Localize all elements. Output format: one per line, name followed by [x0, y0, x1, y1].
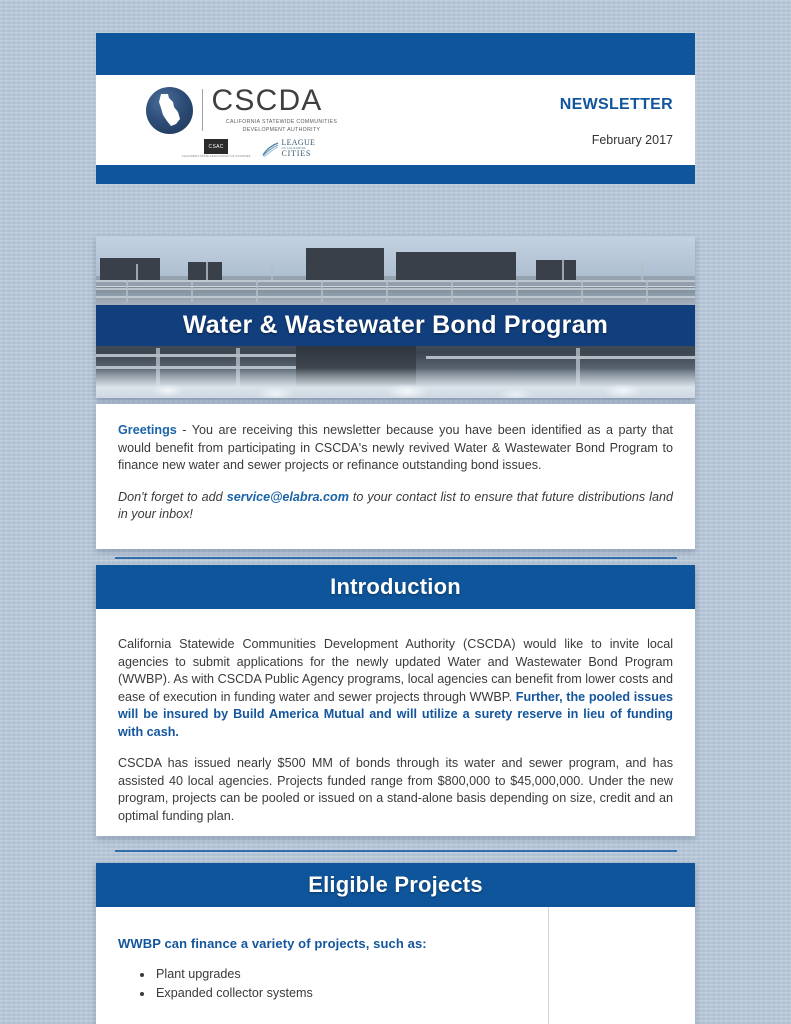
rail-post [646, 280, 648, 302]
whitelist-note: Don't forget to add service@elabra.com t… [118, 489, 673, 524]
introduction-body: California Statewide Communities Develop… [96, 609, 695, 836]
hero-banner: Water & Wastewater Bond Program [96, 236, 695, 398]
csac-logo: CSAC CALIFORNIA STATE ASSOCIATION OF COU… [182, 139, 251, 158]
handrail [426, 356, 695, 359]
building [396, 252, 516, 280]
greeting-panel: Greetings - You are receiving this newsl… [96, 404, 695, 549]
hero-title: Water & Wastewater Bond Program [183, 311, 608, 340]
rail-post [581, 280, 583, 302]
greeting-paragraph: Greetings - You are receiving this newsl… [118, 422, 673, 475]
masthead: CSCDA CALIFORNIA STATEWIDE COMMUNITIES D… [96, 33, 695, 193]
issue-date: February 2017 [592, 133, 673, 147]
section-divider-rule [115, 557, 677, 559]
building [536, 260, 576, 280]
section-divider-rule [115, 850, 677, 852]
list-item: Plant upgrades [154, 965, 548, 984]
rail-post [321, 280, 323, 302]
introduction-section-header: Introduction [96, 565, 695, 609]
light-pole [271, 262, 273, 282]
csac-mark: CSAC [204, 139, 228, 154]
building [188, 262, 222, 280]
cscda-logo[interactable]: CSCDA CALIFORNIA STATEWIDE COMMUNITIES D… [96, 75, 401, 165]
building [306, 248, 384, 280]
masthead-bottom-blue-bar [96, 165, 695, 184]
hero-title-bar: Water & Wastewater Bond Program [96, 305, 695, 346]
masthead-top-blue-bar [96, 33, 695, 75]
light-pole [206, 260, 208, 282]
eligible-projects-left-column: WWBP can finance a variety of projects, … [96, 907, 548, 1024]
list-item: Expanded collector systems [154, 984, 548, 1003]
cscda-logo-main: CSCDA CALIFORNIA STATEWIDE COMMUNITIES D… [146, 86, 352, 135]
rail-post [386, 280, 388, 302]
light-pole [562, 258, 564, 282]
rail-post [516, 280, 518, 302]
service-email-link[interactable]: service@elabra.com [227, 490, 349, 504]
logo-subtitle-line2: DEVELOPMENT AUTHORITY [243, 127, 321, 133]
handrail [96, 280, 695, 282]
rail-post [256, 280, 258, 302]
eligible-projects-right-column [548, 907, 695, 1024]
eligible-projects-heading: Eligible Projects [308, 872, 483, 898]
rail-post [451, 280, 453, 302]
building [100, 258, 160, 280]
masthead-right: NEWSLETTER February 2017 [401, 75, 695, 165]
california-state-seal-icon [146, 87, 193, 134]
eligible-projects-body: WWBP can finance a variety of projects, … [96, 907, 695, 1024]
greeting-text: - You are receiving this newsletter beca… [118, 423, 673, 472]
swoosh-icon [262, 141, 279, 157]
rail-post [191, 280, 193, 302]
eligible-projects-section-header: Eligible Projects [96, 863, 695, 907]
light-pole [641, 262, 643, 282]
introduction-paragraph-2: CSCDA has issued nearly $500 MM of bonds… [118, 755, 673, 825]
logo-acronym: CSCDA [212, 86, 352, 116]
eligible-projects-list: Plant upgrades Expanded collector system… [118, 965, 548, 1003]
introduction-heading: Introduction [330, 574, 461, 600]
whitelist-note-before: Don't forget to add [118, 490, 227, 504]
eligible-projects-intro: WWBP can finance a variety of projects, … [118, 936, 548, 951]
partner-logos: CSAC CALIFORNIA STATE ASSOCIATION OF COU… [182, 139, 315, 158]
logo-subtitle: CALIFORNIA STATEWIDE COMMUNITIES DEVELOP… [212, 119, 352, 135]
introduction-paragraph-1: California Statewide Communities Develop… [118, 636, 673, 741]
handrail [96, 296, 695, 298]
logo-wordmark: CSCDA CALIFORNIA STATEWIDE COMMUNITIES D… [212, 86, 352, 135]
masthead-body: CSCDA CALIFORNIA STATEWIDE COMMUNITIES D… [96, 75, 695, 165]
league-of-california-cities-logo: LEAGUE OF CALIFORNIA CITIES [262, 139, 315, 158]
csac-caption: CALIFORNIA STATE ASSOCIATION OF COUNTIES [182, 155, 251, 158]
logo-subtitle-line1: CALIFORNIA STATEWIDE COMMUNITIES [226, 119, 337, 125]
league-line3: CITIES [281, 150, 315, 158]
logo-divider [202, 89, 203, 131]
newsletter-label: NEWSLETTER [560, 96, 673, 114]
handrail [96, 288, 695, 290]
league-wordmark: LEAGUE OF CALIFORNIA CITIES [281, 139, 315, 158]
rail-post [126, 280, 128, 302]
aerated-water-foam [96, 368, 695, 398]
handrail [96, 354, 296, 357]
greeting-lead-word: Greetings [118, 423, 177, 437]
newsletter-page: CSCDA CALIFORNIA STATEWIDE COMMUNITIES D… [0, 0, 791, 1024]
